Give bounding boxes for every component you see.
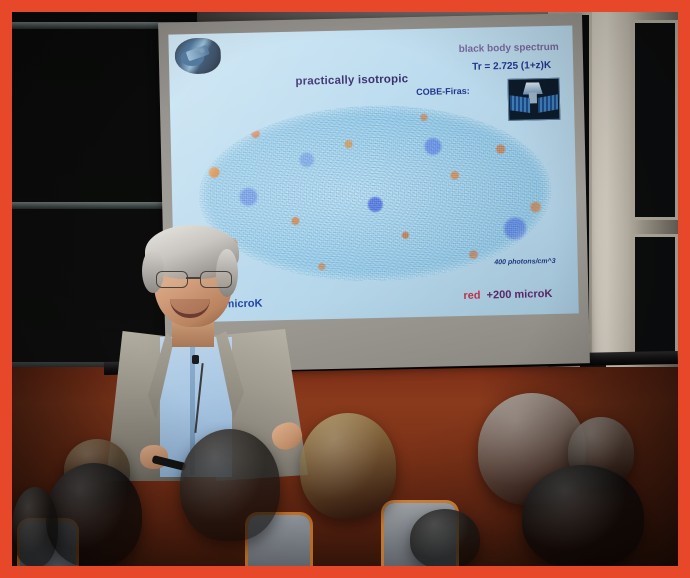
satellite-thumbnail-icon (174, 37, 221, 74)
audience-group (12, 391, 678, 566)
slide-text-cobe-firas: COBE-Firas: (416, 86, 470, 97)
audience-head-9 (410, 509, 480, 566)
audience-head-3 (180, 429, 280, 541)
glasses-lens-left (156, 271, 188, 288)
slide-text-black-body-spectrum: black body spectrum (459, 42, 559, 55)
slide-text-photon-density: 400 photons/cm^3 (494, 258, 555, 266)
slide-text-scale-max-value: +200 microK (486, 288, 552, 301)
audience-head-2 (46, 463, 142, 566)
window-panel-lower-right (632, 234, 678, 362)
window-panel-upper-right (632, 20, 678, 220)
lecture-hall-scene: practically isotropic black body spectru… (12, 12, 678, 566)
audience-head-7 (522, 465, 644, 566)
lapel-microphone-icon (192, 355, 199, 364)
audience-head-8 (12, 487, 58, 566)
audience-head-4 (300, 413, 396, 519)
speaker-glasses (154, 271, 234, 287)
glasses-bridge (186, 277, 200, 279)
slide-text-scale-max: red +200 microK (463, 288, 552, 302)
glasses-lens-right (200, 271, 232, 288)
photo-frame: practically isotropic black body spectru… (0, 0, 690, 578)
slide-text-temperature-formula: Tr = 2.725 (1+z)K (472, 60, 551, 73)
slide-text-isotropic: practically isotropic (295, 73, 408, 88)
slide-text-red-word: red (463, 290, 480, 302)
